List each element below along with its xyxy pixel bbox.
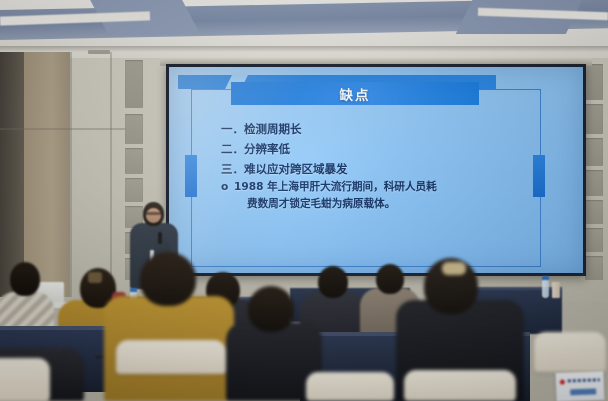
- paper-cup: [552, 282, 560, 298]
- audience-head: [248, 286, 294, 332]
- slide-title-bar: 缺点: [231, 82, 479, 105]
- wall-seam: [0, 128, 140, 130]
- audience-head: [318, 266, 348, 298]
- slide-title: 缺点: [340, 84, 371, 104]
- audience-head: [140, 252, 196, 306]
- chair: [534, 332, 606, 372]
- audience-head: [376, 264, 404, 294]
- sub-bullet-line-1: 1988 年上海甲肝大流行期间，科研人员耗: [234, 181, 437, 193]
- wall-door-wood: [24, 52, 70, 297]
- bottle-cap: [130, 288, 137, 292]
- wall-door-dark: [0, 52, 26, 297]
- chair: [116, 340, 226, 374]
- microphone: [158, 232, 162, 244]
- table-name-card: [556, 371, 605, 401]
- sub-bullet-line-2: 费数周才锁定毛蚶为病原载体。: [221, 196, 541, 213]
- audience-head: [10, 262, 40, 296]
- water-bottle: [542, 280, 549, 298]
- wall-seam: [70, 52, 72, 297]
- slide-accent-bar-left: [185, 155, 197, 197]
- conference-room-photo: 缺点 一．检测周期长 二．分辨率低 三．难以应对跨区域暴发 o1988 年上海甲…: [0, 0, 608, 401]
- slide-sub-bullet: o1988 年上海甲肝大流行期间，科研人员耗 费数周才锁定毛蚶为病原载体。: [221, 179, 541, 213]
- sub-bullet-marker: o: [221, 179, 234, 196]
- chair: [404, 370, 516, 401]
- slide-bullet: 三．难以应对跨区域暴发: [221, 159, 541, 179]
- presenter-glasses: [146, 212, 161, 215]
- projection-screen: 缺点 一．检测周期长 二．分辨率低 三．难以应对跨区域暴发 o1988 年上海甲…: [169, 67, 583, 273]
- slide-bullet: 二．分辨率低: [221, 139, 541, 159]
- slide-body: 一．检测周期长 二．分辨率低 三．难以应对跨区域暴发 o1988 年上海甲肝大流…: [221, 119, 541, 213]
- ceiling-soffit: [0, 0, 608, 48]
- chair: [0, 358, 50, 401]
- chair: [306, 372, 394, 401]
- placard-logo-icon: [560, 380, 565, 385]
- placard-text-line: [568, 378, 600, 382]
- presenter-face: [146, 208, 161, 223]
- hair-accessory: [442, 262, 466, 275]
- hair-clip: [88, 272, 102, 283]
- wall-seam: [110, 52, 112, 297]
- bottle-cap: [542, 276, 549, 280]
- placard-text-line: [570, 388, 596, 395]
- ceiling-vent: [88, 50, 110, 54]
- slide-bullet: 一．检测周期长: [221, 119, 541, 139]
